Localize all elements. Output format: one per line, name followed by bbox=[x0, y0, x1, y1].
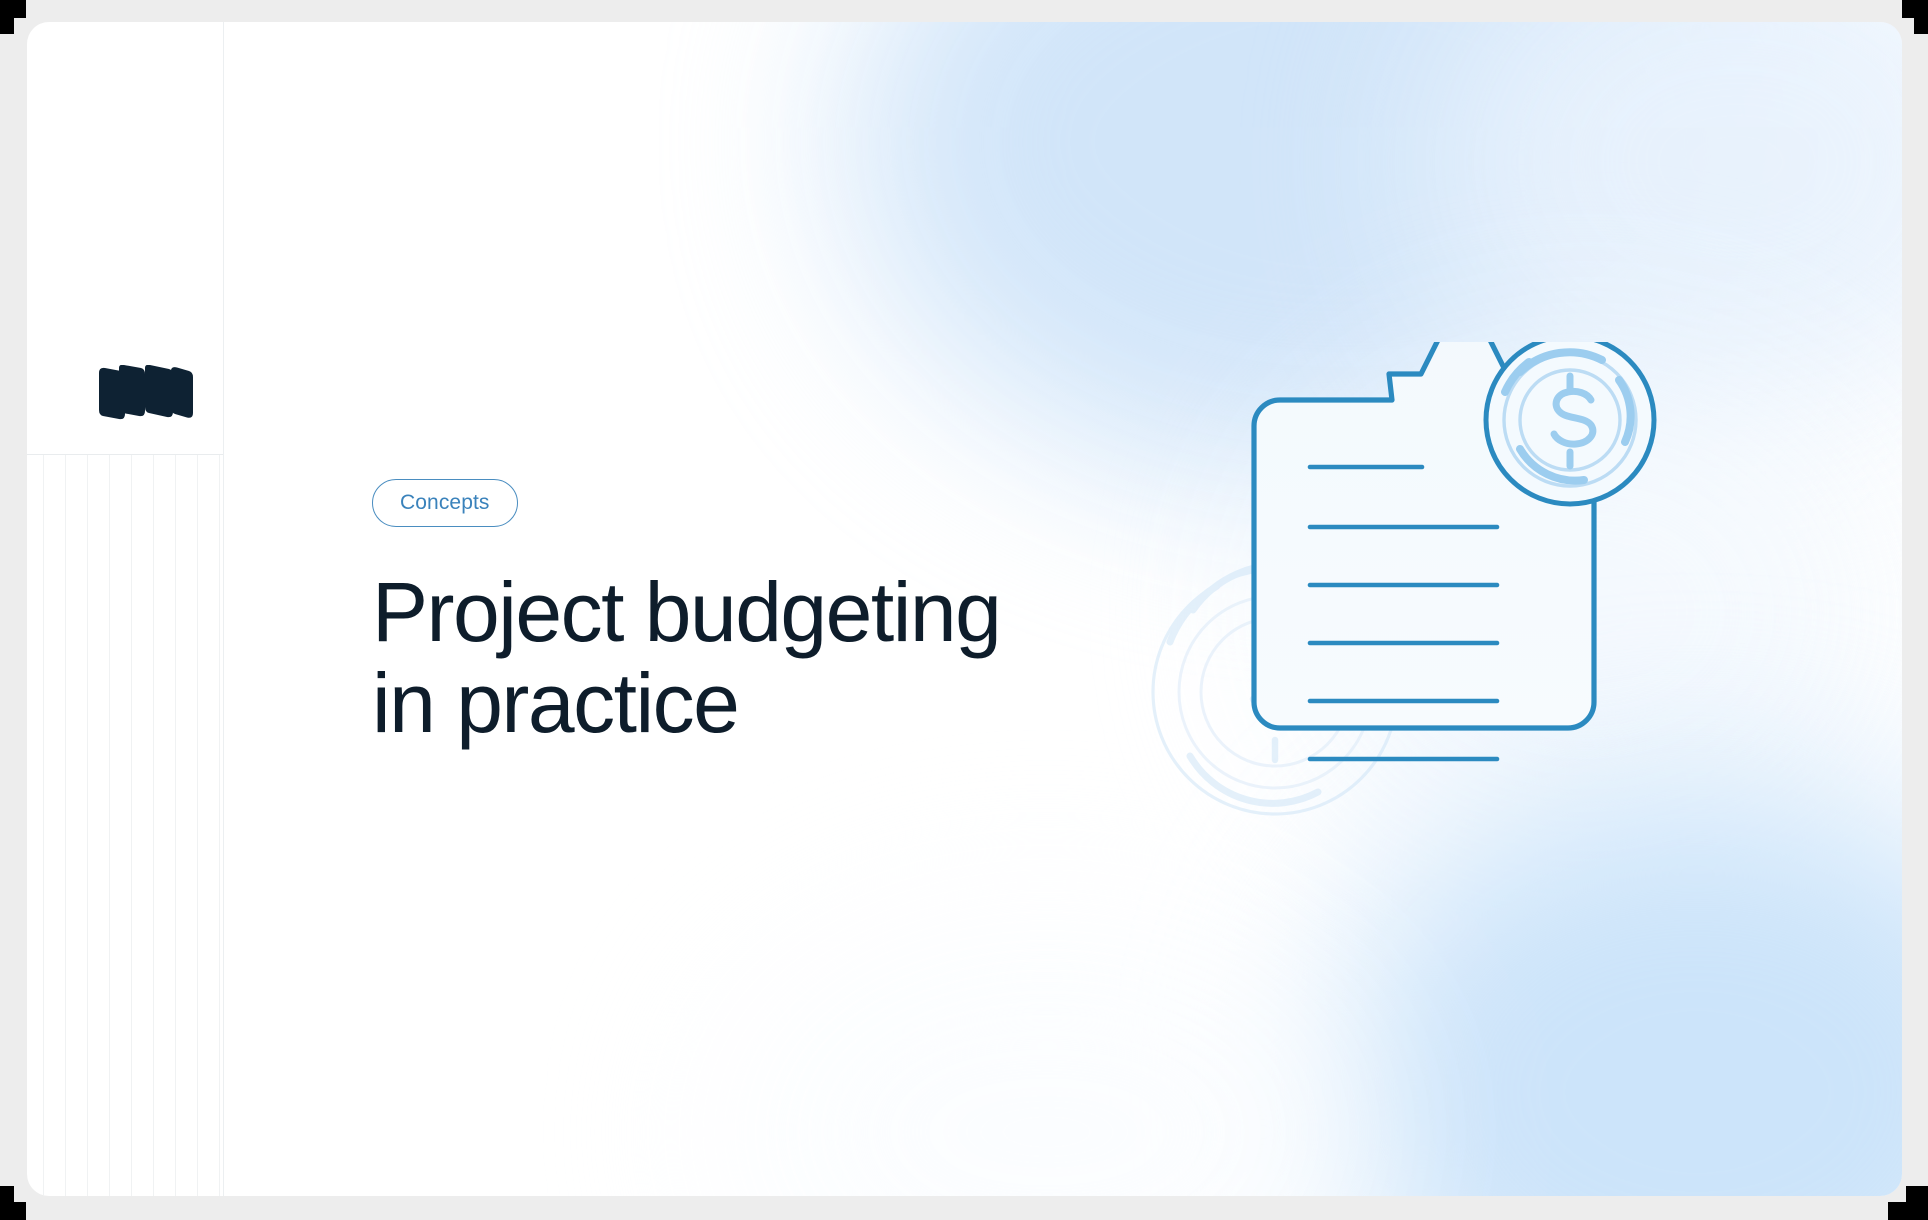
left-rail bbox=[27, 22, 224, 1196]
clipboard-with-coins-illustration bbox=[1112, 342, 1712, 922]
rail-stripe-pattern bbox=[27, 455, 224, 1196]
category-badge[interactable]: Concepts bbox=[372, 479, 518, 527]
dollar-coin bbox=[1486, 342, 1654, 504]
background-gradient-bottom-left bbox=[727, 922, 1367, 1196]
page-title-line-2: in practice bbox=[372, 656, 738, 750]
page-title-line-1: Project budgeting bbox=[372, 565, 1000, 659]
brand-logo[interactable] bbox=[95, 365, 195, 427]
slide-canvas: Concepts Project budgeting in practice bbox=[0, 0, 1928, 1220]
slide-card: Concepts Project budgeting in practice bbox=[27, 22, 1902, 1196]
page-title: Project budgeting in practice bbox=[372, 567, 1192, 748]
rail-divider-vertical bbox=[223, 22, 224, 1196]
category-badge-label: Concepts bbox=[400, 491, 490, 515]
three-slab-logo-icon bbox=[95, 365, 195, 427]
